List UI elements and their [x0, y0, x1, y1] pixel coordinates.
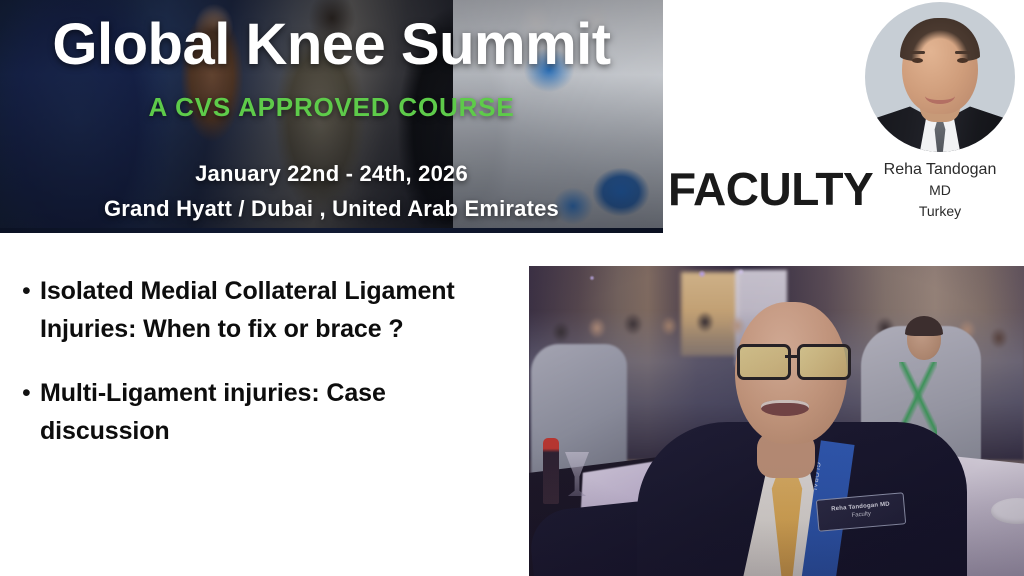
- avatar-smile: [925, 88, 955, 104]
- event-venue: Grand Hyatt / Dubai , United Arab Emirat…: [0, 198, 663, 220]
- photo-vignette: [529, 266, 1024, 576]
- avatar-eye-left: [912, 58, 923, 63]
- presentation-slide: Global Knee Summit A CVS APPROVED COURSE…: [0, 0, 1024, 576]
- faculty-name: Reha Tandogan: [860, 160, 1020, 180]
- event-banner: Global Knee Summit A CVS APPROVED COURSE…: [0, 0, 663, 233]
- topic-list: • Isolated Medial Collateral Ligament In…: [22, 272, 512, 476]
- event-date: January 22nd - 24th, 2026: [0, 163, 663, 185]
- bullet-icon: •: [22, 272, 40, 310]
- avatar-brow-left: [910, 51, 925, 54]
- faculty-degree: MD: [860, 180, 1020, 201]
- list-item-label: Isolated Medial Collateral Ligament Inju…: [40, 272, 512, 348]
- bullet-icon: •: [22, 374, 40, 412]
- event-title: Global Knee Summit: [0, 16, 663, 74]
- event-subtitle: A CVS APPROVED COURSE: [0, 94, 663, 120]
- avatar-hair: [900, 18, 980, 62]
- avatar-eye-right: [957, 58, 968, 63]
- banner-text-group: Global Knee Summit A CVS APPROVED COURSE…: [0, 0, 663, 233]
- faculty-heading: FACULTY: [668, 166, 873, 212]
- faculty-card: Reha Tandogan MD Turkey: [860, 0, 1020, 222]
- avatar-brow-right: [955, 51, 970, 54]
- audience-photo: GLOBAL Reha Tandogan MD Faculty: [529, 266, 1024, 576]
- avatar: [865, 2, 1015, 152]
- faculty-country: Turkey: [860, 201, 1020, 222]
- list-item-label: Multi-Ligament injuries: Case discussion: [40, 374, 512, 450]
- list-item: • Isolated Medial Collateral Ligament In…: [22, 272, 512, 348]
- list-item: • Multi-Ligament injuries: Case discussi…: [22, 374, 512, 450]
